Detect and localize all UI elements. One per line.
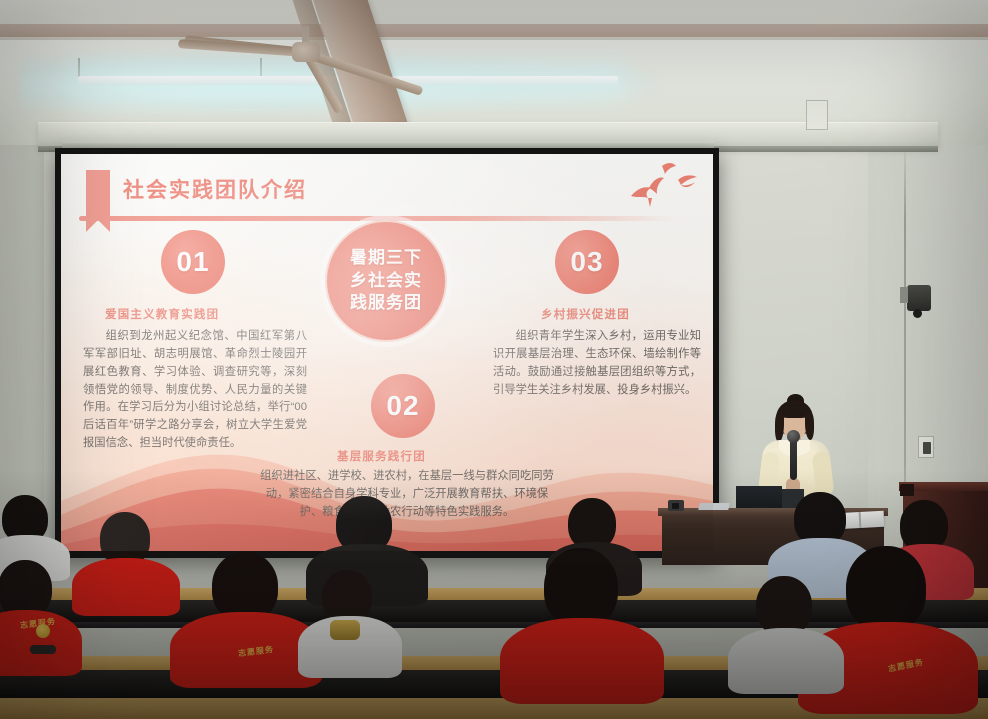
slide-title: 社会实践团队介绍 [123, 174, 307, 204]
center-line-3: 践服务团 [350, 292, 422, 314]
section-heading-02: 基层服务践行团 [337, 448, 426, 464]
ceiling [0, 0, 988, 44]
cabinet-corner-bracket [900, 484, 914, 496]
microphone-head-icon [787, 430, 800, 443]
section-badge-01: 01 [161, 230, 225, 294]
desk-object [30, 645, 56, 654]
head [846, 546, 926, 632]
small-device [668, 500, 684, 511]
ceiling-fan-icon [292, 42, 320, 62]
light-bracket [260, 58, 262, 78]
light-bracket [78, 58, 80, 78]
vest-badge-icon [36, 624, 50, 638]
center-line-1: 暑期三下 [350, 247, 422, 269]
presenter-hair-side [805, 412, 814, 440]
audience-member [86, 512, 172, 604]
audience-member [740, 576, 832, 686]
paper-sheet [698, 503, 729, 510]
wall-switch[interactable] [918, 436, 934, 458]
section-body-03: 组织青年学生深入乡村，运用专业知识开展基层治理、生态环保、墙绘制作等活动。鼓励通… [493, 328, 701, 399]
wall-seam [904, 140, 906, 540]
shoulders [728, 628, 844, 694]
center-line-2: 乡社会实 [350, 270, 422, 292]
flying-birds-icon [621, 160, 711, 216]
section-badge-02: 02 [371, 374, 435, 438]
wall-outlet [806, 100, 828, 130]
wall-camera-icon [907, 285, 931, 311]
audience-member [190, 552, 302, 680]
ceiling-beam [0, 24, 988, 37]
ribbon-bookmark-icon [86, 170, 110, 220]
section-heading-03: 乡村振兴促进团 [541, 306, 630, 322]
center-title-circle: 暑期三下 乡社会实 践服务团 [325, 220, 447, 342]
section-badge-03: 03 [555, 230, 619, 294]
presenter-hair-side [775, 412, 784, 442]
volunteer-vest [72, 558, 180, 616]
section-body-01: 组织到龙州起义纪念馆、中国红军第八军军部旧址、胡志明展馆、革命烈士陵园开展红色教… [83, 328, 307, 453]
desk-object [330, 620, 360, 640]
section-heading-01: 爱国主义教育实践团 [105, 306, 219, 322]
presentation-slide: 社会实践团队介绍 01 03 02 暑期三下 乡 [61, 154, 713, 551]
head [756, 576, 812, 636]
audience-member [520, 548, 644, 688]
volunteer-vest [500, 618, 664, 704]
head [544, 548, 618, 628]
lecture-hall-photo: 社会实践团队介绍 01 03 02 暑期三下 乡 [0, 0, 988, 719]
